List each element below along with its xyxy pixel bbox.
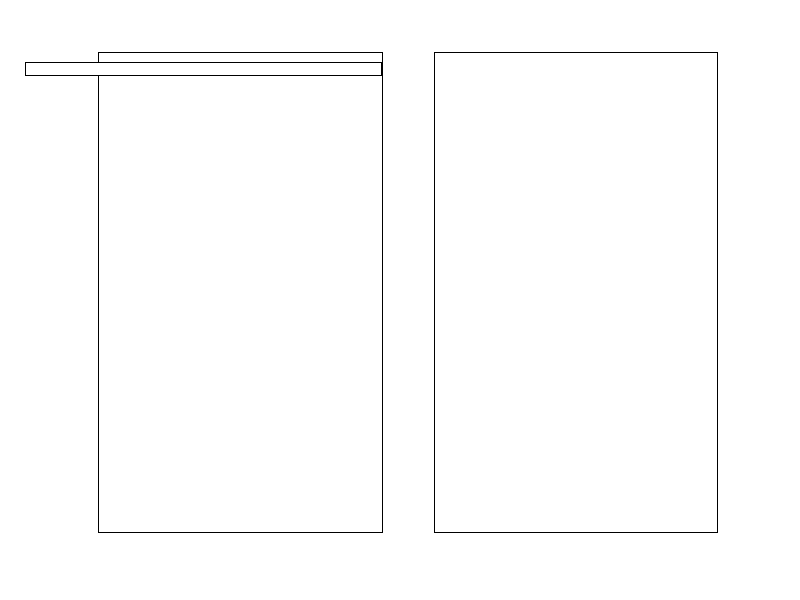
histogram-canvas (435, 53, 717, 532)
legend (25, 62, 382, 76)
scatter-canvas (99, 53, 382, 532)
scatter-plot-area[interactable] (98, 52, 383, 533)
figure-canvas (0, 0, 800, 600)
histogram-plot-area[interactable] (434, 52, 718, 533)
